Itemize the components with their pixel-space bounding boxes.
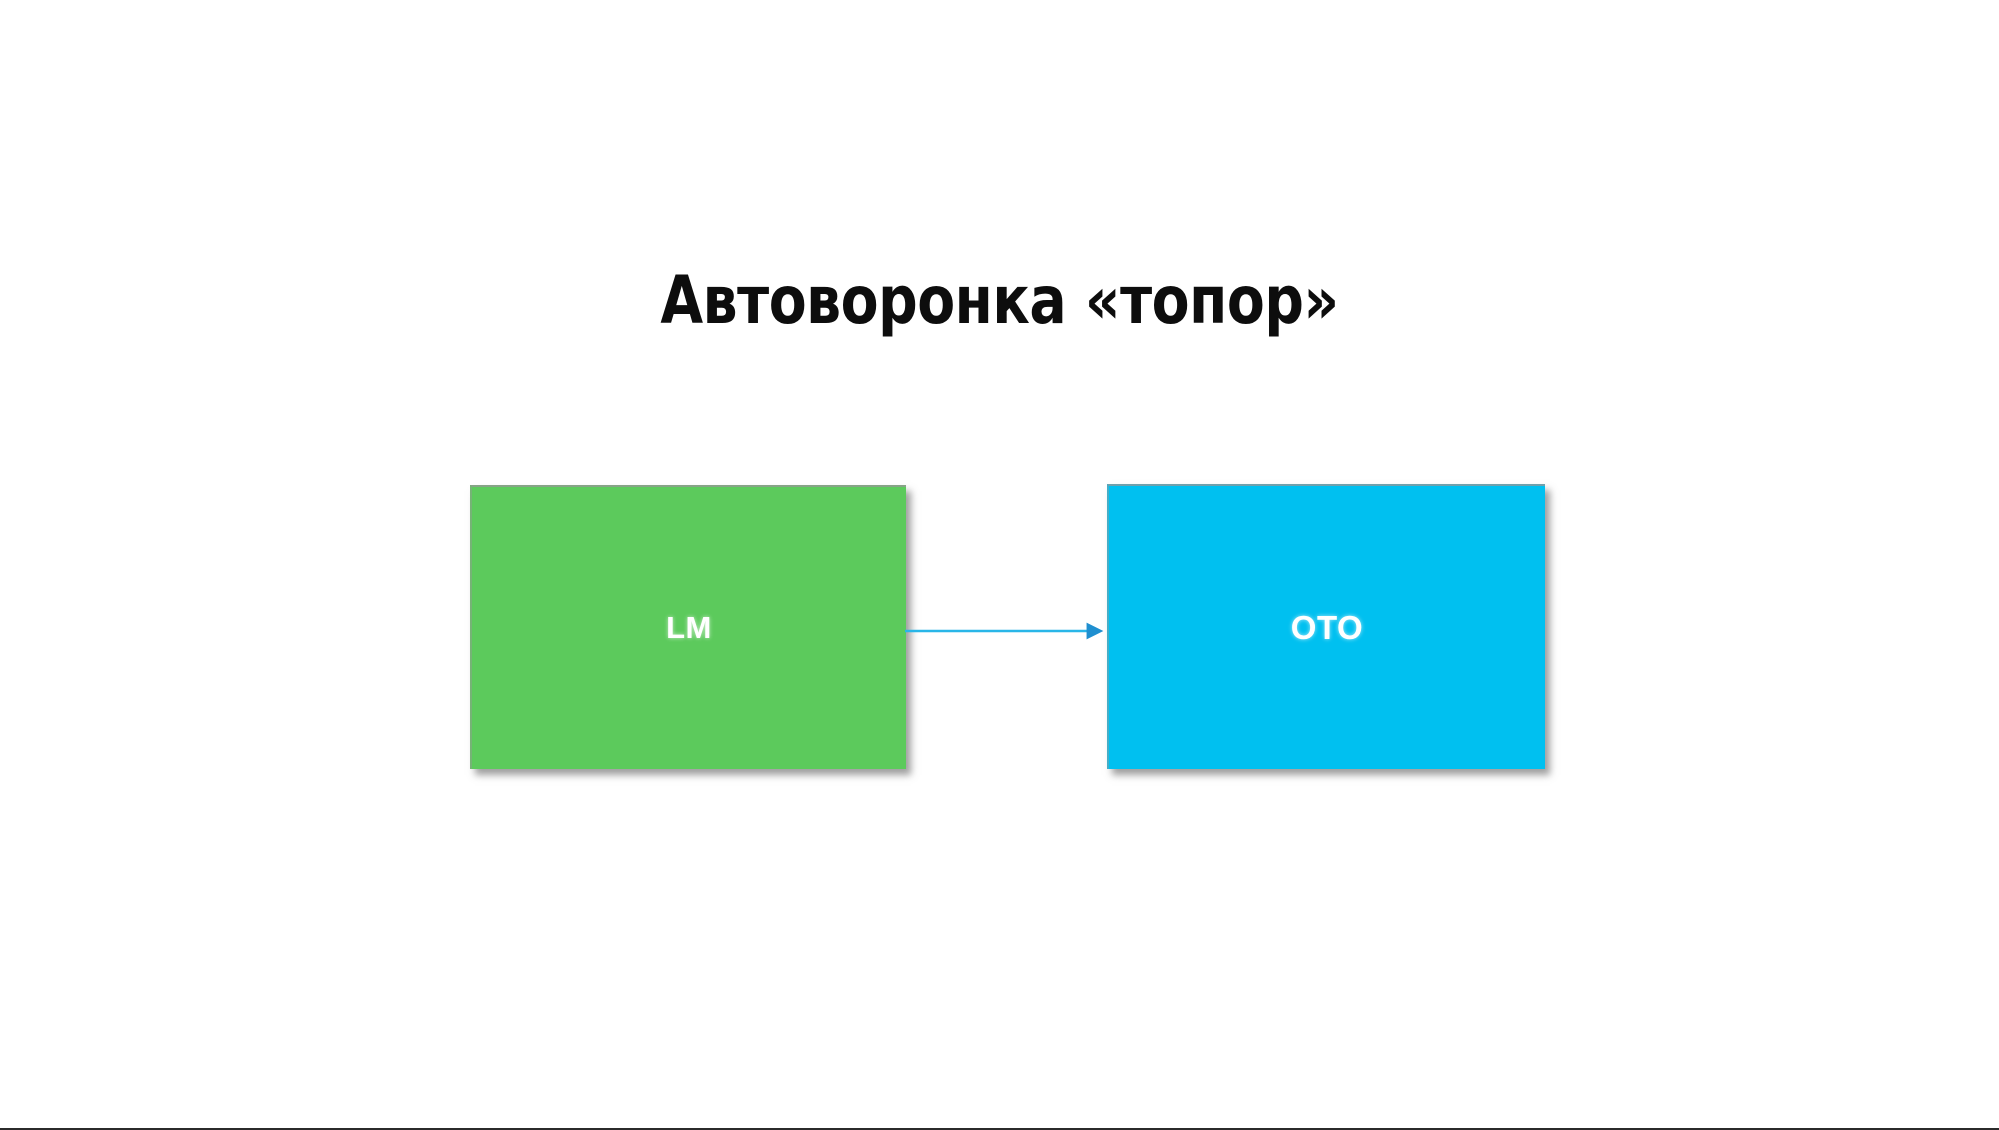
connector-lm-to-oto: [890, 600, 1130, 662]
flow-diagram: LM OTO: [0, 0, 1999, 1130]
diagram-node-oto-label: OTO: [1291, 609, 1363, 647]
diagram-node-oto[interactable]: OTO: [1107, 484, 1545, 769]
diagram-node-lm[interactable]: LM: [470, 485, 906, 769]
slide-canvas: Автоворонка «топор» LM OTO: [0, 0, 1999, 1130]
diagram-node-lm-label: LM: [666, 610, 712, 646]
